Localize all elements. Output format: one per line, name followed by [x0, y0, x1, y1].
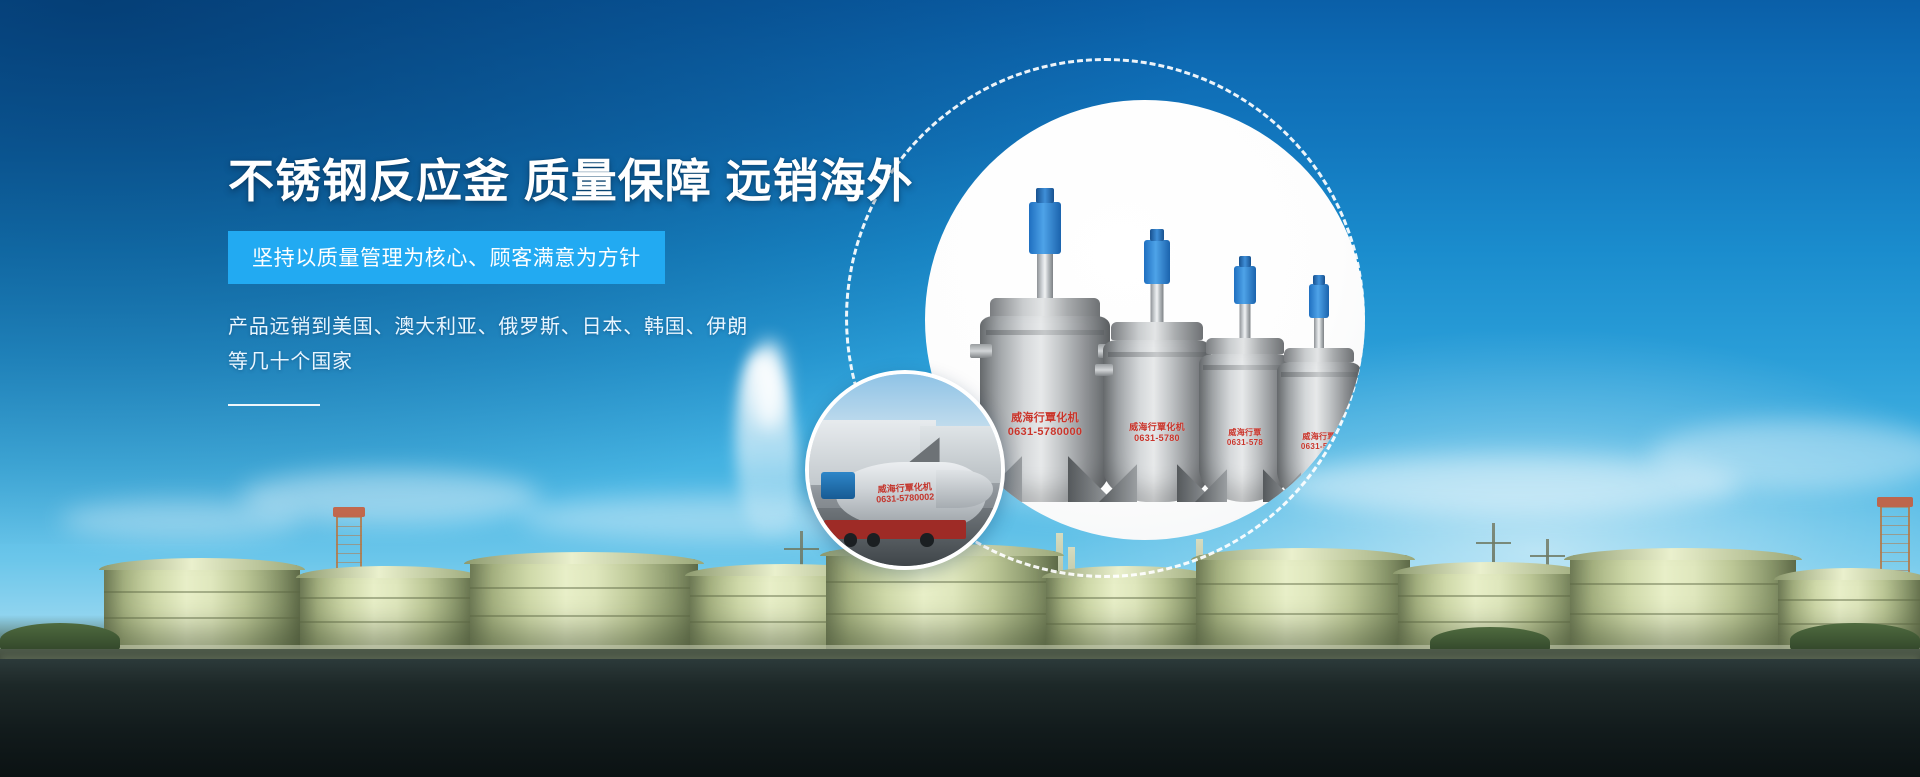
vessel-phone-line: 0631-578: [1301, 442, 1337, 452]
water: [0, 659, 1920, 777]
vessel-body: 威海行覃 0631-578: [1277, 362, 1361, 502]
vessel-support-fin: [1195, 462, 1227, 502]
banner-paragraph: 产品远销到美国、澳大利亚、俄罗斯、日本、韩国、伊朗 等几十个国家: [228, 310, 868, 380]
banner-subtitle-bar: 坚持以质量管理为核心、顾客满意为方针: [228, 231, 665, 284]
vessel-brand-label: 威海行覃 0631-578: [1227, 428, 1263, 448]
vessel-brand-label: 威海行覃化机 0631-5780: [1129, 422, 1185, 445]
banner-paragraph-line-2: 等几十个国家: [228, 345, 868, 380]
storage-tank: [300, 573, 476, 651]
storage-tank: [1196, 555, 1410, 651]
vessel-band: [1281, 372, 1357, 377]
banner-paragraph-line-1: 产品远销到美国、澳大利亚、俄罗斯、日本、韩国、伊朗: [228, 310, 868, 345]
agitator-shaft: [1314, 318, 1324, 348]
vessel-body: 威海行覃化机 0631-5780: [1103, 340, 1211, 502]
agitator-shaft: [1240, 304, 1251, 338]
storage-tank: [104, 565, 300, 651]
vessel-lid: [1206, 338, 1284, 354]
storage-tank: [1570, 555, 1796, 651]
vessel-phone-line: 0631-5780000: [1008, 426, 1083, 440]
vessel-phone-line: 0631-578: [1227, 438, 1263, 448]
vessel-lid: [1111, 322, 1203, 340]
vessel-nozzle: [1095, 364, 1113, 376]
vessel-phone-line: 0631-5780: [1129, 433, 1185, 444]
vessel-brand-label: 威海行覃 0631-578: [1301, 432, 1337, 452]
storage-tank: [1046, 573, 1208, 651]
tower-cap: [333, 507, 365, 517]
vessel-support-fin: [1337, 466, 1365, 502]
agitator-motor: [1029, 202, 1061, 254]
decorative-rule: [228, 404, 320, 406]
vessel-support-fin: [1099, 456, 1137, 502]
cloud: [60, 500, 300, 540]
vessel-band: [1108, 352, 1206, 357]
photo-wheel: [844, 533, 857, 546]
vessel-support-fin: [1273, 466, 1301, 502]
storage-tank: [826, 551, 1058, 651]
tower-cap: [1877, 497, 1913, 507]
vessel-brand-line1: 威海行覃化机: [1129, 422, 1185, 433]
agitator-motor: [1234, 266, 1256, 304]
vessel-nozzle: [970, 344, 992, 358]
storage-tank: [470, 559, 698, 651]
banner-stage: 威海行覃化机 0631-5780000 威海行覃化机 0631-5780: [0, 0, 1920, 777]
vessel-brand-line1: 威海行覃化机: [1008, 412, 1083, 426]
photo-wheel: [920, 533, 933, 546]
banner-headline: 不锈钢反应釜 质量保障 远销海外: [228, 156, 868, 207]
agitator-motor: [1144, 240, 1170, 284]
vessel-band: [986, 330, 1104, 335]
vessel-lid: [1284, 348, 1354, 362]
vessel-brand-line1: 威海行覃: [1227, 428, 1263, 438]
agitator-shaft: [1037, 254, 1053, 298]
agitator-shaft: [1151, 284, 1164, 322]
banner-copy-block: 不锈钢反应釜 质量保障 远销海外 坚持以质量管理为核心、顾客满意为方针 产品远销…: [228, 156, 868, 406]
vessel-brand-line1: 威海行覃: [1301, 432, 1337, 442]
agitator-motor: [1309, 284, 1329, 318]
photo-wheel: [867, 533, 880, 546]
reactor-vessel: 威海行覃 0631-578: [1275, 284, 1363, 502]
photo-vessel-brand-label: 威海行覃化机 0631-5780002: [875, 482, 934, 506]
photo-vessel-motor: [821, 472, 856, 499]
vessel-brand-label: 威海行覃化机 0631-5780000: [1008, 412, 1083, 440]
